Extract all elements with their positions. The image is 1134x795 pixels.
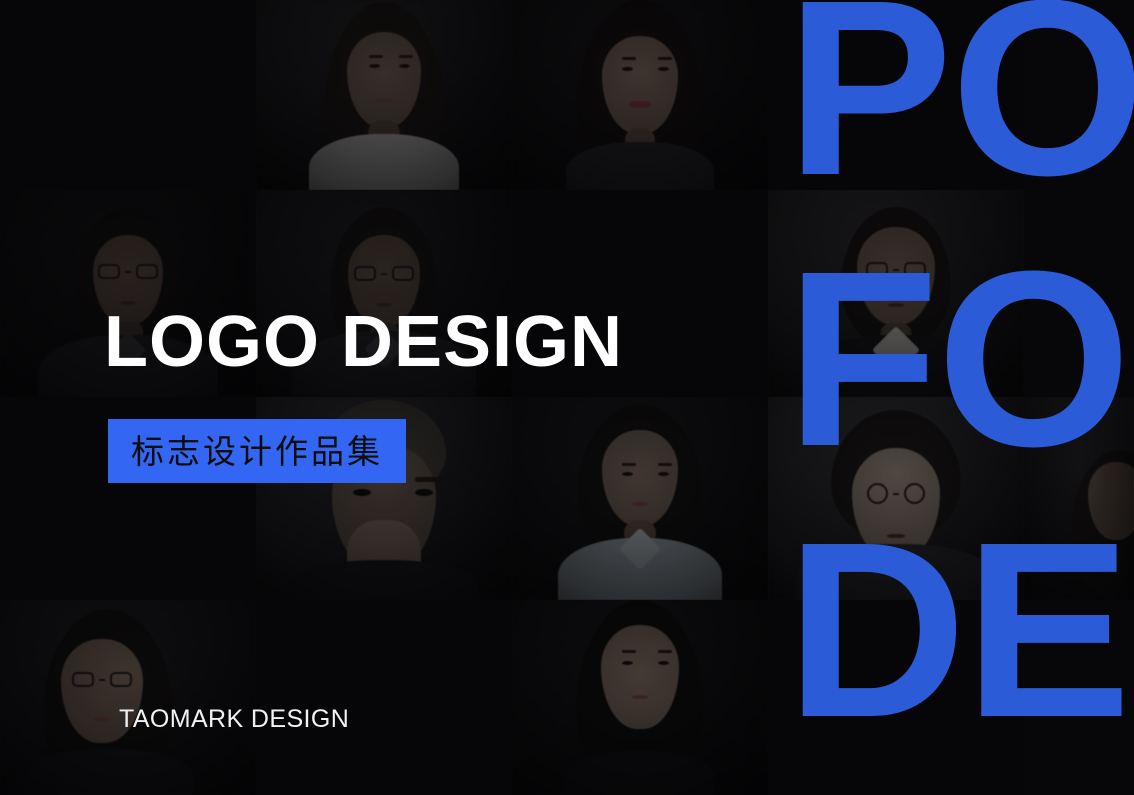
portrait-man-glasses-collared-shirt xyxy=(768,190,1024,397)
portrait-edge-partial xyxy=(1024,397,1134,600)
portrait-woman-long-dark-hair xyxy=(512,600,768,795)
photo-cell-r4c4 xyxy=(768,600,1024,795)
photo-cell-r3c3 xyxy=(512,397,768,600)
photo-cell-r4c3 xyxy=(512,600,768,795)
photo-cell-r1c3 xyxy=(512,0,768,190)
photo-cell-r1c2 xyxy=(256,0,512,190)
poster-canvas: PO FO DE LOGO DESIGN 标志设计作品集 TAOMARK DES… xyxy=(0,0,1134,795)
portrait-woman-glasses-long-hair xyxy=(0,600,256,795)
photo-cell-r1c1 xyxy=(0,0,256,190)
photo-cell-r1c4 xyxy=(768,0,1024,190)
portrait-woman-smiling xyxy=(512,0,768,190)
page-title: LOGO DESIGN xyxy=(104,306,623,378)
photo-grid xyxy=(0,0,1134,795)
footer-brand: TAOMARK DESIGN xyxy=(119,707,349,732)
photo-cell-r3c4 xyxy=(768,397,1024,600)
photo-cell-r4c5 xyxy=(1024,600,1134,795)
portrait-woman-white-shirt xyxy=(256,0,512,190)
photo-cell-r4c1 xyxy=(0,600,256,795)
photo-cell-r3c5 xyxy=(1024,397,1134,600)
photo-cell-r2c4 xyxy=(768,190,1024,397)
subtitle-badge: 标志设计作品集 xyxy=(108,419,406,483)
photo-cell-r1c5 xyxy=(1024,0,1134,190)
portrait-round-glasses-bob xyxy=(768,397,1024,600)
portrait-woman-light-blue-shirt xyxy=(512,397,768,600)
subtitle-badge-label: 标志设计作品集 xyxy=(131,435,383,468)
photo-cell-r4c2 xyxy=(256,600,512,795)
photo-cell-r2c5 xyxy=(1024,190,1134,397)
